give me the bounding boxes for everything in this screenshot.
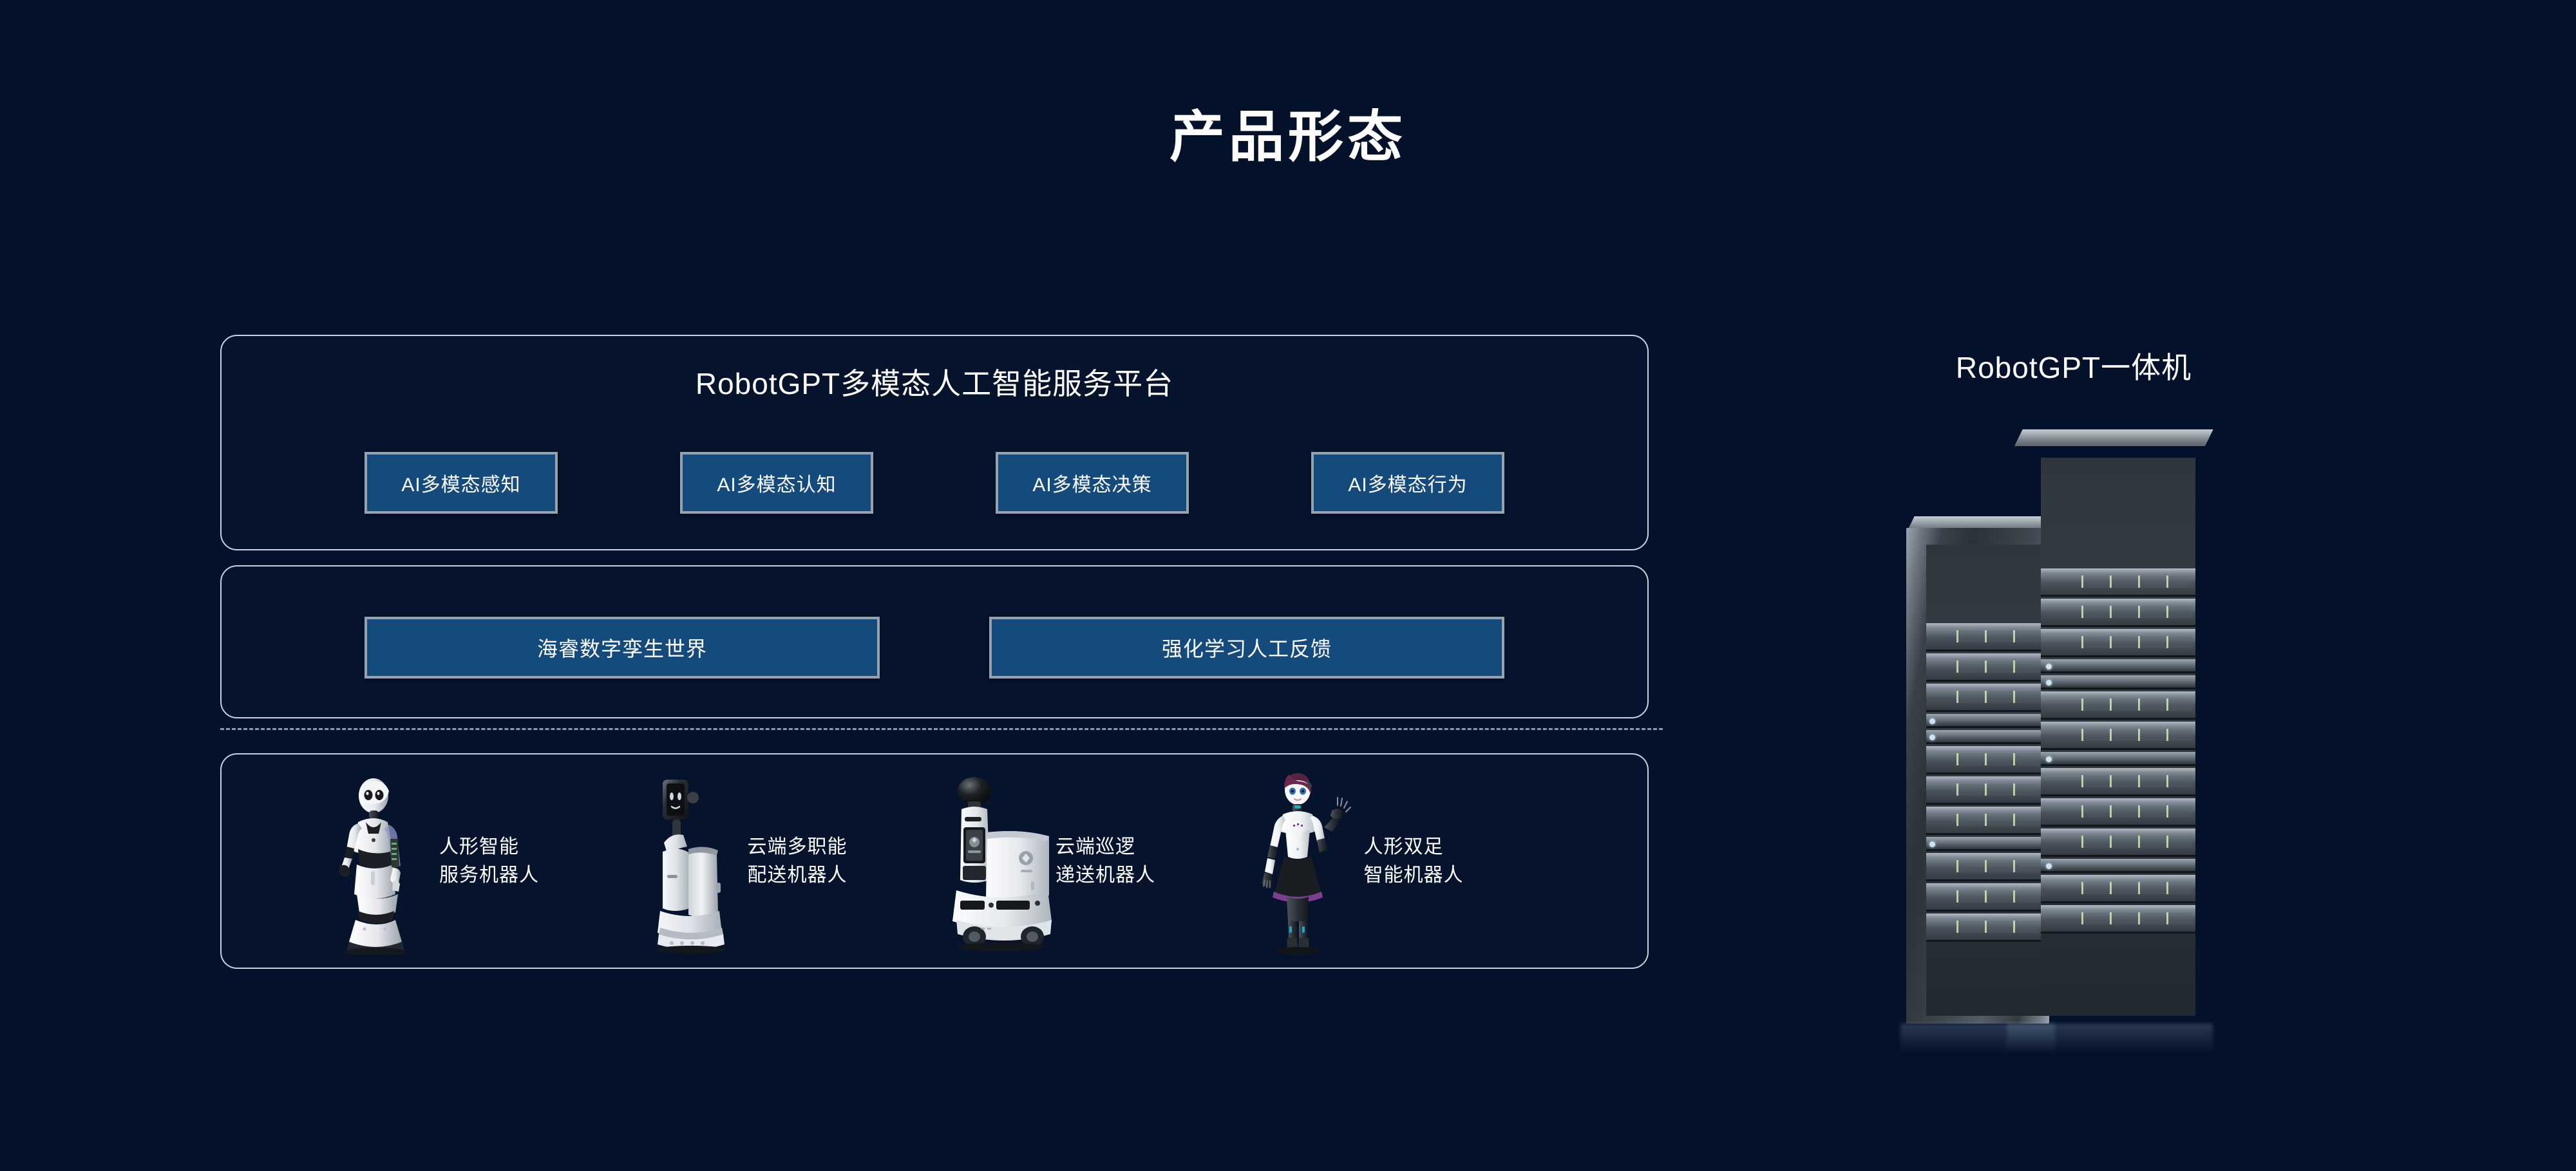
platform-card: RobotGPT多模态人工智能服务平台 AI多模态感知 AI多模态认知 AI多模… (220, 335, 1649, 550)
list-item[interactable]: 人形智能 服务机器人 (318, 754, 627, 968)
engine-card: 海睿数字孪生世界 强化学习人工反馈 (220, 565, 1649, 718)
server-rack-primary (2014, 441, 2205, 1024)
humanoid-service-robot-icon (318, 768, 428, 955)
cloud-patrol-robot-icon (934, 768, 1044, 955)
slide-root: 产品形态 RobotGPT多模态人工智能服务平台 AI多模态感知 AI多模态认知… (0, 0, 2576, 1171)
section-divider (220, 728, 1663, 730)
engine-chip-row: 海睿数字孪生世界 强化学习人工反馈 (222, 617, 1647, 679)
robot-label-line2: 配送机器人 (748, 861, 848, 890)
robot-label-line2: 递送机器人 (1056, 861, 1155, 890)
page-title: 产品形态 (0, 109, 2576, 165)
robot-label: 人形双足 智能机器人 (1364, 833, 1464, 889)
list-item[interactable]: 云端巡逻 递送机器人 (934, 754, 1243, 968)
robot-label-line1: 云端巡逻 (1056, 833, 1155, 861)
appliance-title: RobotGPT一体机 (1848, 344, 2299, 387)
robot-label: 云端巡逻 递送机器人 (1056, 833, 1155, 889)
server-rack-icon (1906, 418, 2248, 1024)
list-item[interactable]: 云端多职能 配送机器人 (627, 754, 935, 968)
robot-label-line1: 人形智能 (439, 833, 539, 861)
robot-label: 云端多职能 配送机器人 (748, 833, 848, 889)
robot-label-line1: 云端多职能 (748, 833, 848, 861)
capability-chip-row: AI多模态感知 AI多模态认知 AI多模态决策 AI多模态行为 (222, 452, 1647, 514)
list-item[interactable]: 人形双足 智能机器人 (1243, 754, 1551, 968)
robot-label-line2: 智能机器人 (1364, 861, 1464, 890)
engine-chip-rlhf[interactable]: 强化学习人工反馈 (989, 617, 1504, 679)
capability-chip-decision[interactable]: AI多模态决策 (996, 452, 1189, 514)
robot-list: 人形智能 服务机器人 (222, 754, 1647, 968)
robot-label: 人形智能 服务机器人 (439, 833, 539, 889)
biped-humanoid-robot-icon (1243, 768, 1352, 955)
capability-chip-cognition[interactable]: AI多模态认知 (680, 452, 873, 514)
robot-label-line1: 人形双足 (1364, 833, 1464, 861)
platform-heading: RobotGPT多模态人工智能服务平台 (222, 361, 1647, 403)
robot-label-line2: 服务机器人 (439, 861, 539, 890)
robot-card: 人形智能 服务机器人 (220, 753, 1649, 969)
engine-chip-digital-twin[interactable]: 海睿数字孪生世界 (365, 617, 880, 679)
capability-chip-behavior[interactable]: AI多模态行为 (1311, 452, 1504, 514)
cloud-delivery-robot-icon (627, 768, 736, 955)
capability-chip-perception[interactable]: AI多模态感知 (365, 452, 558, 514)
